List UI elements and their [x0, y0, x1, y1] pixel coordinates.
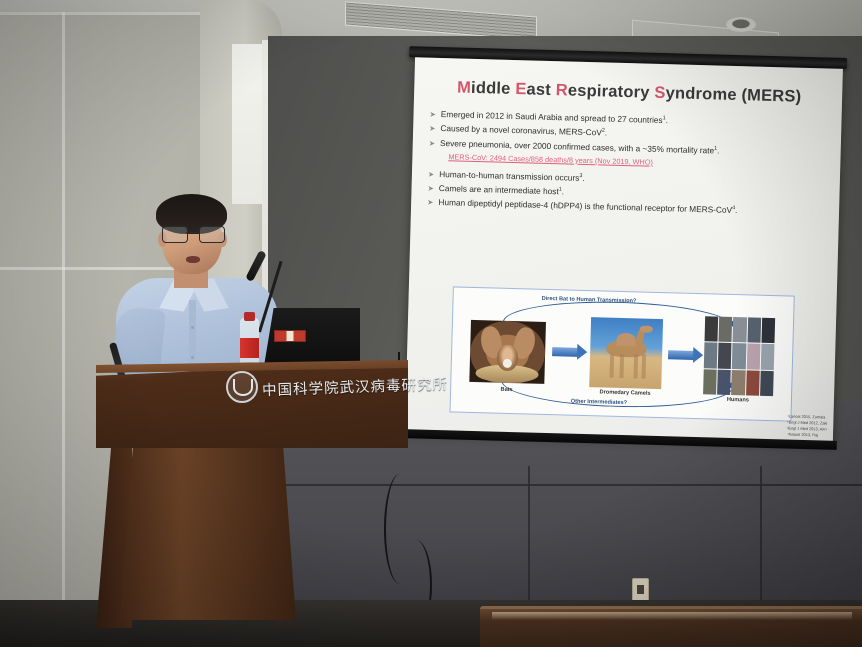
transmission-diagram: Direct Bat to Human Transmission? Other …: [449, 286, 794, 421]
bullet-arrow-icon: ➤: [429, 122, 436, 136]
laptop-sticker: [274, 330, 306, 342]
human-photo-cell: [761, 344, 775, 370]
human-photo-cell: [719, 317, 733, 343]
wall-panel-seam: [528, 466, 530, 616]
diagram-node-label-humans: Humans: [706, 396, 770, 404]
wall-panel-seam-horizontal: [268, 484, 862, 486]
human-photo-cell: [733, 317, 747, 343]
shirt-button: [191, 356, 194, 359]
bullet-superscript: 1: [559, 186, 562, 192]
camel-photo: [589, 317, 663, 389]
bat-photo: [469, 320, 546, 384]
arrow-bat-to-camel-icon: [552, 347, 578, 357]
bullet-arrow-icon: ➤: [429, 108, 436, 122]
bullet-superscript: 1: [714, 145, 717, 151]
wall-panel-seam: [760, 466, 762, 616]
human-photo-cell: [747, 317, 761, 343]
slide: Middle East Respiratory Syndrome (MERS) …: [405, 57, 843, 442]
arrow-camel-to-human-icon: [668, 350, 694, 360]
glasses-icon: [162, 226, 224, 241]
glasses-bridge: [186, 232, 199, 233]
bullet-text: Camels are an intermediate host: [439, 183, 559, 196]
bullet-arrow-icon: ➤: [427, 182, 434, 196]
speaker-mouth: [186, 256, 200, 263]
human-photo-cell: [704, 343, 718, 369]
water-bottle-label: [240, 338, 259, 358]
human-photo-cell: [705, 316, 719, 342]
human-photo-cell: [732, 343, 746, 369]
human-photo-cell: [746, 370, 760, 396]
human-photo-cell: [717, 369, 731, 395]
bullet-arrow-icon: ➤: [428, 167, 435, 181]
human-photo-cell: [703, 369, 717, 395]
bullet-superscript: 2: [602, 128, 605, 134]
slide-references: ¹Lancet 2015, Zumala ²Engl J Med 2012, Z…: [787, 413, 828, 438]
bullet-superscript: 3: [579, 173, 582, 179]
podium-body: [120, 430, 296, 620]
bullet-text: Human-to-human transmission occurs: [439, 169, 579, 183]
humans-photo-grid: [703, 316, 775, 396]
lecture-hall-photo: Middle East Respiratory Syndrome (MERS) …: [0, 0, 862, 647]
ceiling-speaker-icon: [726, 17, 756, 32]
human-photo-cell: [746, 344, 760, 370]
bullet-arrow-icon: ➤: [429, 136, 436, 150]
glasses-lens-right: [199, 226, 225, 243]
bullet-superscript: 1: [663, 115, 666, 121]
bullet-arrow-icon: ➤: [427, 196, 434, 210]
water-bottle-cap: [244, 312, 255, 321]
reference-item: ⁴Nature 2013, Raj: [787, 431, 827, 438]
human-photo-cell: [718, 343, 732, 369]
wall-power-socket: [632, 578, 649, 602]
slide-title: Middle East Respiratory Syndrome (MERS): [430, 78, 828, 108]
human-photo-cell: [761, 318, 775, 344]
human-photo-cell: [732, 370, 746, 396]
table-gloss-highlight: [492, 612, 852, 620]
human-photo-cell: [760, 371, 774, 397]
bullet-text: Caused by a novel coronavirus, MERS-CoV: [440, 123, 602, 137]
glasses-lens-left: [162, 226, 188, 243]
institute-logo-icon: [226, 371, 258, 403]
bullet-superscript: 4: [732, 205, 735, 211]
diagram-node-label-bats: Bats: [469, 386, 544, 394]
shirt-button: [191, 326, 194, 329]
screen-surface: Middle East Respiratory Syndrome (MERS) …: [405, 57, 843, 442]
projection-screen: Middle East Respiratory Syndrome (MERS) …: [399, 46, 847, 450]
